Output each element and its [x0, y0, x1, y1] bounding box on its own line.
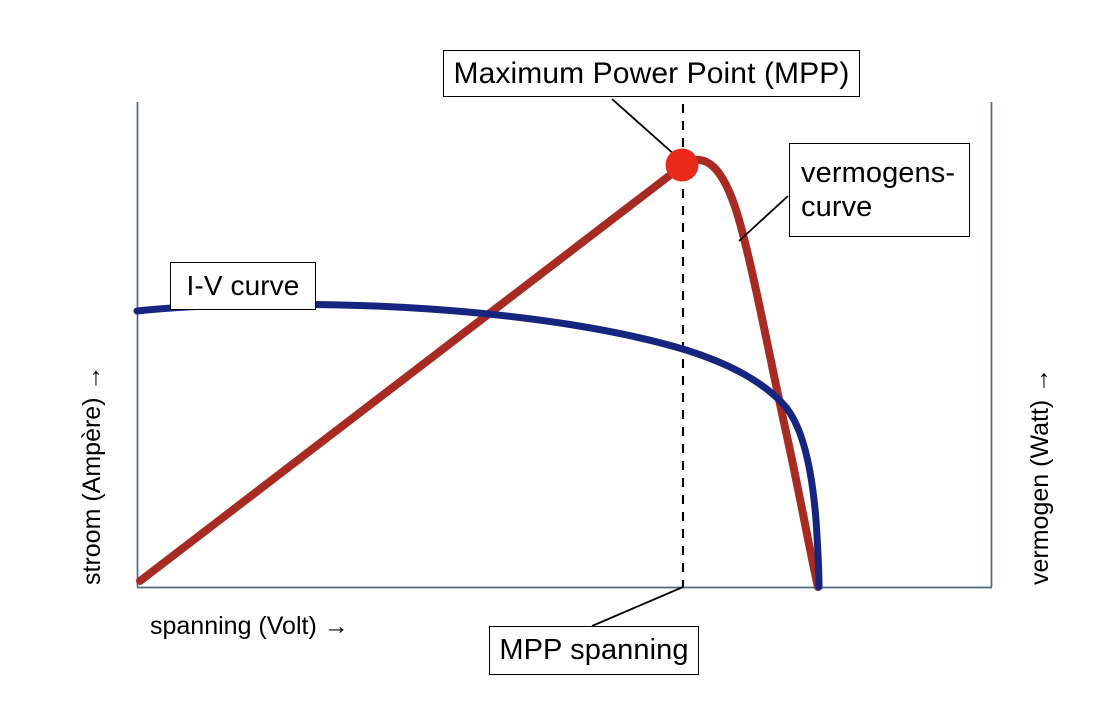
mpp-marker-icon [666, 149, 699, 182]
mpp-voltage-callout-box: MPP spanning [489, 626, 699, 675]
y-axis-right-title: vermogen (Watt) → [1026, 368, 1055, 585]
x-axis-title: spanning (Volt) → [150, 612, 349, 641]
y-axis-left-title: stroom (Ampère) → [78, 366, 107, 585]
mpp-voltage-leader-line [592, 587, 683, 626]
iv-curve-path [137, 304, 819, 587]
mpp-leader-line [612, 99, 676, 156]
chart-canvas [0, 0, 1098, 710]
power-curve-path [140, 160, 818, 587]
iv-curve-callout-box: I-V curve [170, 262, 316, 310]
mpp-callout-box: Maximum Power Point (MPP) [443, 50, 860, 97]
chart-figure: Maximum Power Point (MPP) vermogens- cur… [0, 0, 1098, 710]
power-curve-callout-box: vermogens- curve [789, 143, 970, 237]
power-curve-leader-line [739, 196, 788, 241]
